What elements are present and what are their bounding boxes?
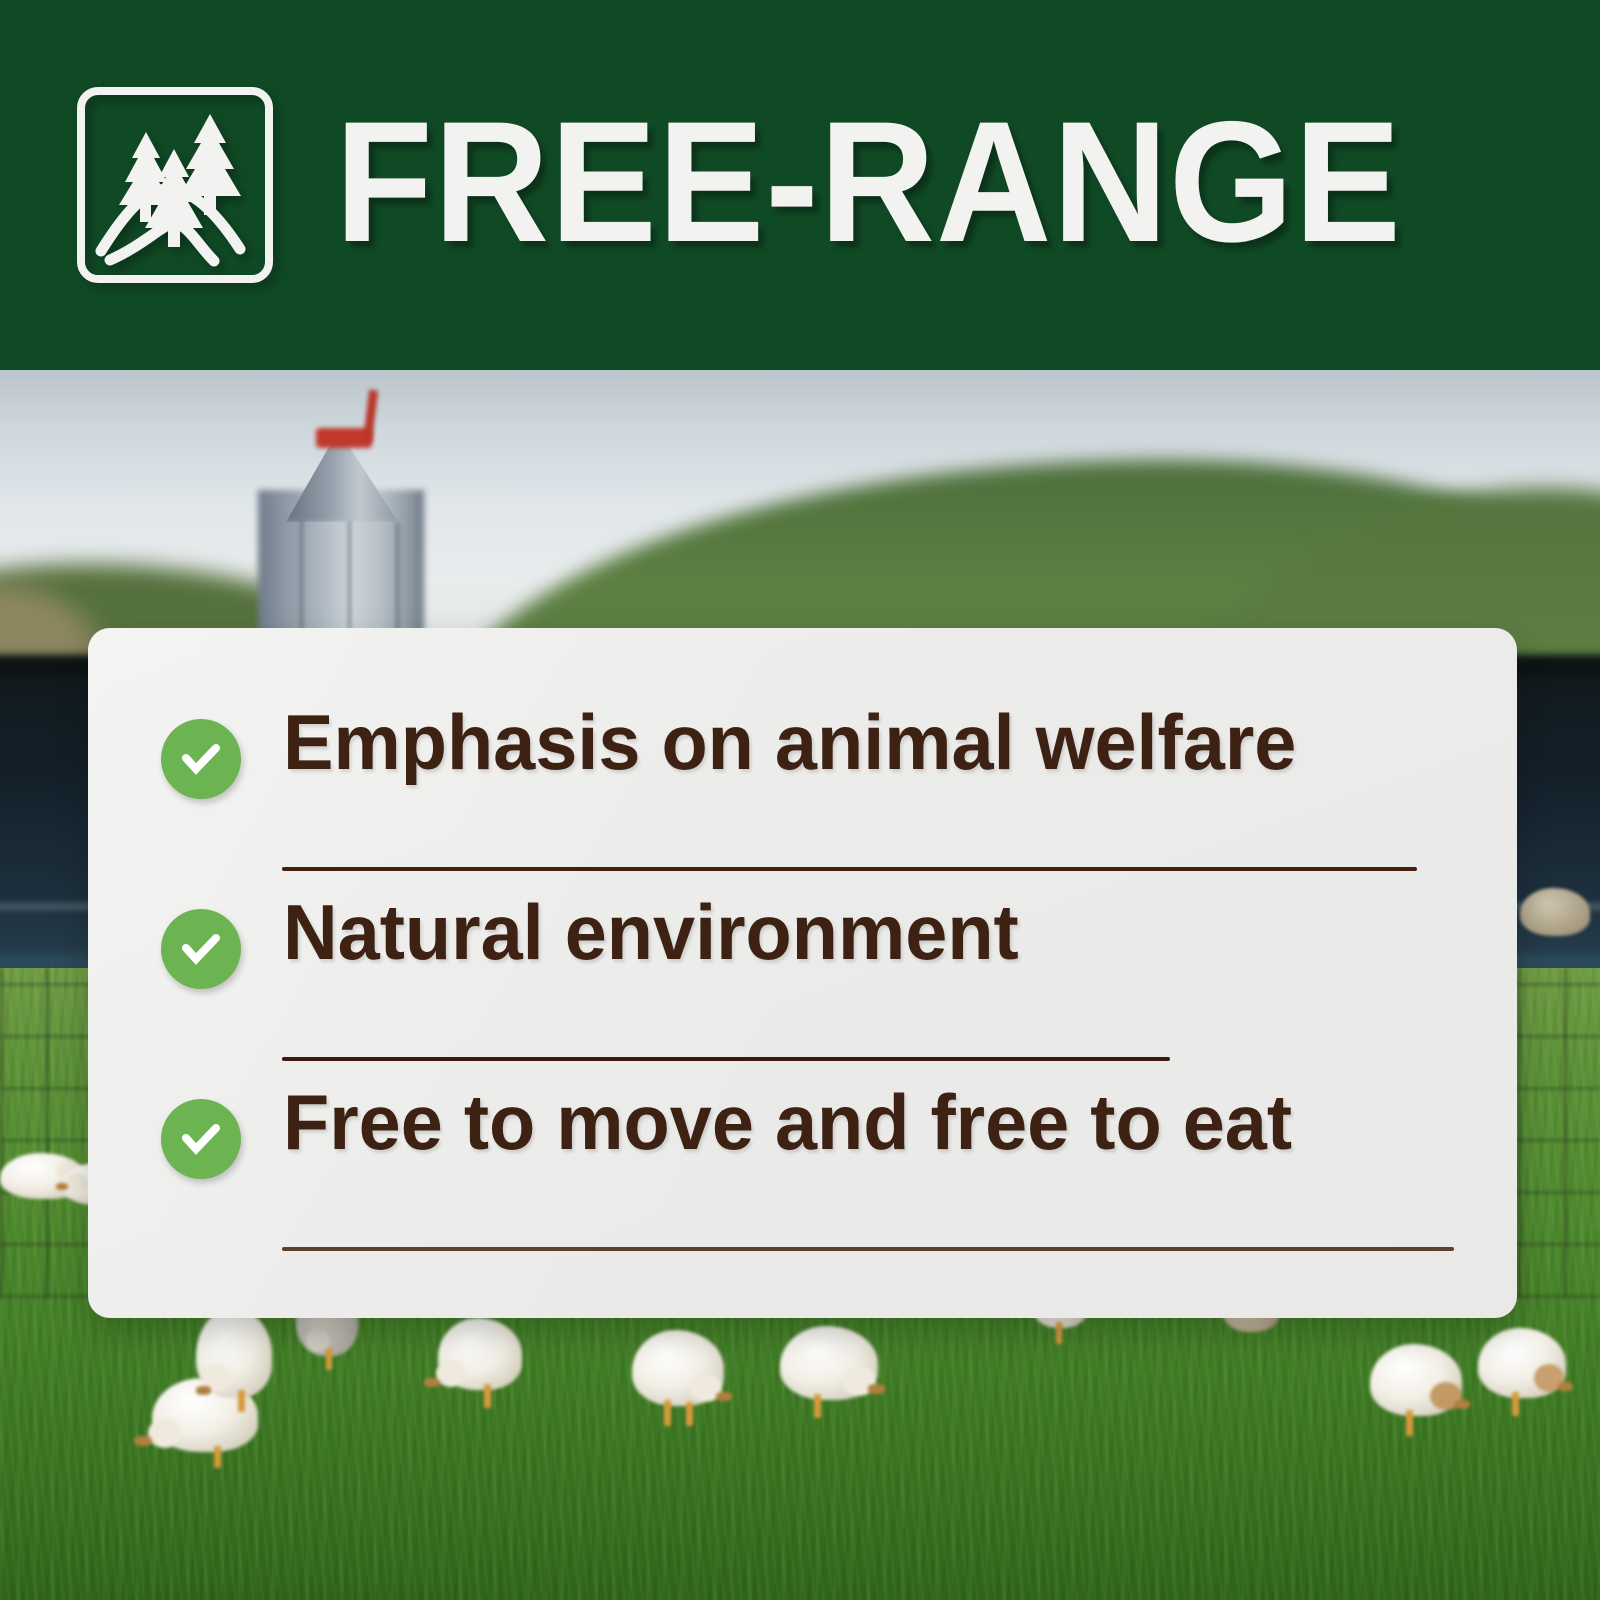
chicken bbox=[780, 1326, 878, 1400]
benefits-card: Emphasis on animal welfare Natural envir… bbox=[88, 628, 1517, 1318]
chicken bbox=[1520, 888, 1590, 936]
page-title: FREE-RANGE bbox=[335, 103, 1402, 261]
three-pine-trees-in-rounded-square-logo bbox=[74, 85, 276, 285]
list-item: Natural environment bbox=[88, 893, 1517, 1083]
benefits-list: Emphasis on animal welfare Natural envir… bbox=[88, 628, 1517, 1273]
chicken bbox=[1478, 1328, 1566, 1398]
list-item-label: Emphasis on animal welfare bbox=[283, 703, 1296, 781]
chicken bbox=[196, 1308, 272, 1398]
chicken bbox=[1370, 1344, 1462, 1416]
list-item: Emphasis on animal welfare bbox=[88, 703, 1517, 893]
chicken bbox=[632, 1330, 724, 1406]
list-item-label: Free to move and free to eat bbox=[283, 1083, 1292, 1161]
list-item-divider bbox=[282, 1247, 1454, 1251]
list-item: Free to move and free to eat bbox=[88, 1083, 1517, 1273]
chicken bbox=[438, 1318, 522, 1390]
check-circle-icon bbox=[161, 909, 241, 989]
header-banner: FREE-RANGE bbox=[0, 0, 1600, 370]
list-item-divider bbox=[282, 867, 1417, 871]
list-item-divider bbox=[282, 1057, 1170, 1061]
list-item-label: Natural environment bbox=[283, 893, 1019, 971]
check-circle-icon bbox=[161, 719, 241, 799]
check-circle-icon bbox=[161, 1099, 241, 1179]
